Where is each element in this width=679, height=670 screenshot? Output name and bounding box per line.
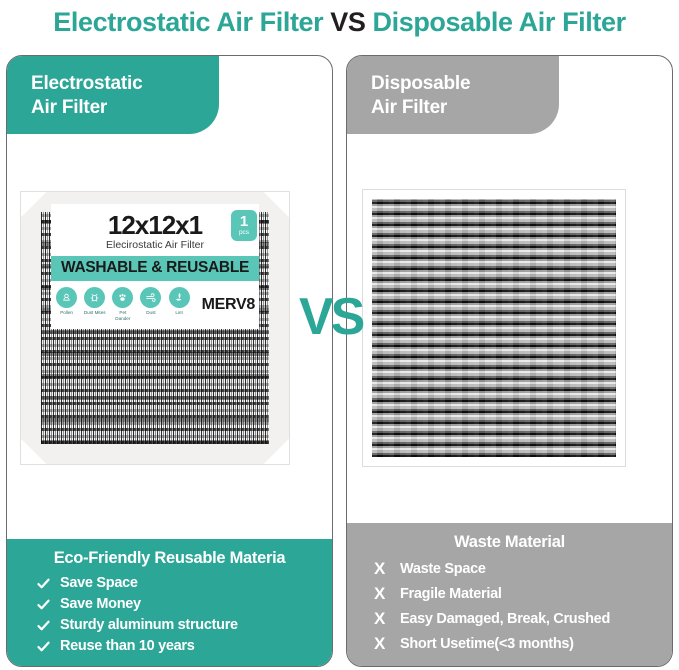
pollen-caption: Pollen [60, 310, 73, 316]
filter-subtitle-text: Elecirostatic Air Filter [51, 239, 259, 252]
list-item-label: Save Money [60, 596, 141, 612]
disposable-drawbacks-footer: Waste Material X Waste Space X Fragile M… [347, 523, 672, 666]
pleat-overlay [372, 199, 616, 457]
dust-mites-icon-cell: Dust Mites [83, 287, 106, 316]
dust-icon-cell: Dust [139, 287, 162, 316]
list-item-label: Fragile Material [400, 586, 502, 602]
electrostatic-product-area: 12x12x1 1 pcs Elecirostatic Air Filter W… [7, 134, 332, 510]
lint-icon [169, 287, 190, 308]
list-item: Reuse than 10 years [7, 638, 332, 654]
list-item-label: Short Usetime(<3 months) [400, 636, 574, 652]
electrostatic-panel-header: Electrostatic Air Filter [7, 56, 219, 134]
pet-dander-icon [112, 287, 133, 308]
disposable-panel: Disposable Air Filter Waste Material X W… [346, 55, 673, 667]
cross-icon: X [374, 634, 400, 654]
pcs-unit: pcs [239, 229, 249, 237]
list-item: X Short Usetime(<3 months) [347, 634, 672, 654]
check-icon [34, 639, 60, 654]
filtration-icon-row: Pollen Dust Mites [51, 281, 259, 324]
merv-rating-text: MERV8 [202, 296, 255, 314]
electrostatic-tab-line1: Electrostatic [31, 72, 219, 96]
disposable-product-area [347, 134, 672, 510]
list-item-label: Reuse than 10 years [60, 638, 195, 654]
dust-mites-caption: Dust Mites [84, 310, 106, 316]
pet-dander-caption: Pet Dander [111, 310, 134, 322]
list-item: Save Money [7, 596, 332, 612]
check-icon [34, 597, 60, 612]
title-left-text: Electrostatic Air Filter [53, 7, 323, 38]
list-item: Save Space [7, 575, 332, 591]
product-label-card: 12x12x1 1 pcs Elecirostatic Air Filter W… [51, 204, 259, 329]
cross-icon: X [374, 584, 400, 604]
disposable-filter-image [363, 190, 625, 466]
check-icon [34, 576, 60, 591]
electrostatic-filter-image: 12x12x1 1 pcs Elecirostatic Air Filter W… [21, 192, 289, 464]
lint-icon-cell: Lint [168, 287, 191, 316]
disposable-tab-line1: Disposable [371, 72, 559, 96]
electrostatic-panel: Electrostatic Air Filter 12x12x1 1 pcs E… [6, 55, 333, 667]
page-title: Electrostatic Air Filter VS Disposable A… [0, 0, 679, 44]
pcs-badge: 1 pcs [231, 210, 257, 241]
pcs-number: 1 [240, 215, 248, 229]
title-vs-text: VS [323, 7, 372, 38]
disposable-tab-line2: Air Filter [371, 96, 559, 120]
list-item: X Waste Space [347, 559, 672, 579]
filter-size-text: 12x12x1 [108, 212, 202, 238]
list-item: X Easy Damaged, Break, Crushed [347, 609, 672, 629]
dust-mites-icon [84, 287, 105, 308]
title-right-text: Disposable Air Filter [373, 7, 626, 38]
pet-dander-icon-cell: Pet Dander [111, 287, 134, 322]
label-top-row: 12x12x1 1 pcs [51, 210, 259, 238]
vs-divider-badge: VS [299, 291, 362, 343]
disposable-panel-header: Disposable Air Filter [347, 56, 559, 134]
washable-reusable-banner: WASHABLE & REUSABLE [51, 256, 259, 281]
list-item: Sturdy aluminum structure [7, 617, 332, 633]
cross-icon: X [374, 609, 400, 629]
dust-caption: Dust [146, 310, 155, 316]
pollen-icon-cell: Pollen [55, 287, 78, 316]
list-item: X Fragile Material [347, 584, 672, 604]
list-item-label: Save Space [60, 575, 138, 591]
dust-icon [140, 287, 161, 308]
disposable-footer-title: Waste Material [347, 533, 672, 552]
electrostatic-footer-title: Eco-Friendly Reusable Materia [7, 549, 332, 568]
list-item-label: Easy Damaged, Break, Crushed [400, 611, 610, 627]
electrostatic-tab-line2: Air Filter [31, 96, 219, 120]
list-item-label: Waste Space [400, 561, 486, 577]
lint-caption: Lint [175, 310, 182, 316]
electrostatic-benefits-footer: Eco-Friendly Reusable Materia Save Space… [7, 539, 332, 666]
check-icon [34, 618, 60, 633]
list-item-label: Sturdy aluminum structure [60, 617, 238, 633]
cross-icon: X [374, 559, 400, 579]
pollen-icon [56, 287, 77, 308]
